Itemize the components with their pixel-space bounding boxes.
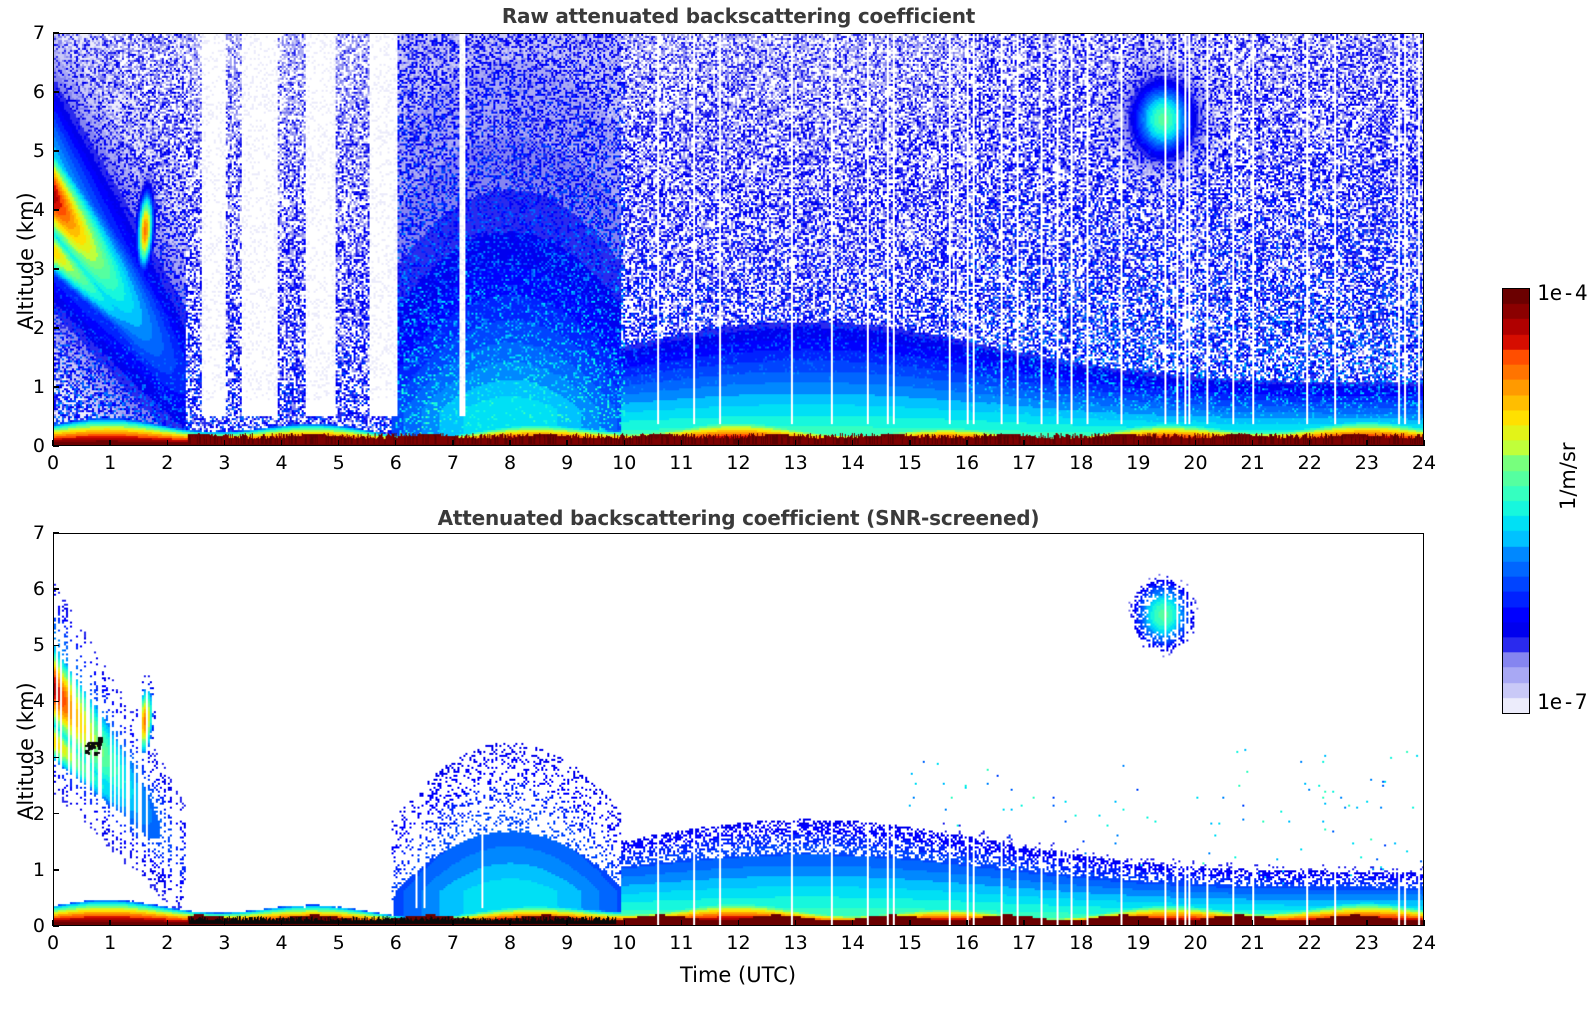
x-tick-label: 2 — [161, 932, 173, 954]
x-tick-label: 21 — [1241, 452, 1265, 474]
y-tick-label: 2 — [17, 803, 45, 825]
x-tick — [1081, 440, 1082, 446]
x-tick — [795, 920, 796, 926]
y-tick — [53, 91, 59, 92]
y-tick — [53, 757, 59, 758]
x-tick — [566, 440, 567, 446]
x-tick-label: 8 — [504, 452, 516, 474]
x-axis-label: Time (UTC) — [680, 963, 796, 987]
x-tick-label: 20 — [1183, 932, 1207, 954]
x-tick-label: 16 — [955, 452, 979, 474]
x-tick-label: 14 — [841, 452, 865, 474]
x-tick — [167, 920, 168, 926]
x-tick-label: 19 — [1126, 452, 1150, 474]
x-tick — [1138, 920, 1139, 926]
y-tick — [53, 701, 59, 702]
y-tick-label: 3 — [17, 258, 45, 280]
x-tick — [1309, 920, 1310, 926]
x-tick — [795, 440, 796, 446]
top-panel-title: Raw attenuated backscattering coefficien… — [53, 4, 1424, 28]
x-tick — [224, 440, 225, 446]
y-tick-label: 2 — [17, 317, 45, 339]
y-tick — [53, 813, 59, 814]
x-tick-label: 10 — [612, 452, 636, 474]
y-tick — [53, 532, 59, 533]
x-tick-label: 11 — [669, 932, 693, 954]
x-tick — [1195, 440, 1196, 446]
x-tick — [1081, 920, 1082, 926]
colorbar-gradient — [1502, 288, 1530, 714]
x-tick-label: 4 — [275, 932, 287, 954]
x-tick — [509, 440, 510, 446]
x-tick — [624, 440, 625, 446]
x-tick-label: 16 — [955, 932, 979, 954]
x-tick-label: 0 — [47, 452, 59, 474]
y-tick — [53, 209, 59, 210]
x-tick-label: 4 — [275, 452, 287, 474]
x-tick — [395, 920, 396, 926]
y-tick-label: 5 — [17, 140, 45, 162]
x-tick-label: 3 — [218, 452, 230, 474]
x-tick-label: 18 — [1069, 452, 1093, 474]
x-tick — [738, 920, 739, 926]
x-tick — [566, 920, 567, 926]
x-tick — [109, 440, 110, 446]
x-tick — [1366, 920, 1367, 926]
x-tick-label: 21 — [1241, 932, 1265, 954]
y-tick-label: 6 — [17, 578, 45, 600]
y-tick-label: 7 — [17, 22, 45, 44]
x-tick-label: 24 — [1412, 932, 1436, 954]
x-tick — [452, 920, 453, 926]
x-tick-label: 22 — [1298, 452, 1322, 474]
x-tick — [1195, 920, 1196, 926]
y-tick — [53, 869, 59, 870]
y-tick — [53, 268, 59, 269]
x-tick — [1252, 440, 1253, 446]
x-tick-label: 12 — [726, 932, 750, 954]
x-tick-label: 7 — [447, 452, 459, 474]
x-tick — [281, 920, 282, 926]
x-tick — [338, 920, 339, 926]
x-tick-label: 23 — [1355, 452, 1379, 474]
y-tick — [53, 386, 59, 387]
colorbar-max-label: 1e-4 — [1537, 281, 1588, 305]
x-tick — [509, 920, 510, 926]
x-tick-label: 3 — [218, 932, 230, 954]
x-tick — [1309, 440, 1310, 446]
x-tick — [1023, 440, 1024, 446]
x-tick — [909, 920, 910, 926]
y-tick-label: 4 — [17, 199, 45, 221]
y-tick — [53, 150, 59, 151]
y-tick — [53, 445, 59, 446]
x-tick-label: 9 — [561, 932, 573, 954]
colorbar — [1502, 288, 1530, 714]
x-tick-label: 2 — [161, 452, 173, 474]
x-tick-label: 20 — [1183, 452, 1207, 474]
bottom-panel-plot-area — [53, 533, 1424, 926]
x-tick-label: 0 — [47, 932, 59, 954]
y-tick-label: 0 — [17, 915, 45, 937]
top-panel-plot-area — [53, 33, 1424, 446]
x-tick-label: 1 — [104, 452, 116, 474]
x-tick-label: 1 — [104, 932, 116, 954]
y-tick-label: 0 — [17, 435, 45, 457]
y-tick-label: 1 — [17, 859, 45, 881]
y-tick — [53, 588, 59, 589]
x-tick — [224, 920, 225, 926]
x-tick-label: 7 — [447, 932, 459, 954]
x-tick-label: 12 — [726, 452, 750, 474]
x-tick-label: 13 — [784, 452, 808, 474]
y-tick-label: 1 — [17, 376, 45, 398]
x-tick — [109, 920, 110, 926]
bottom-panel-title: Attenuated backscattering coefficient (S… — [53, 506, 1424, 530]
x-tick-label: 24 — [1412, 452, 1436, 474]
x-tick-label: 5 — [333, 452, 345, 474]
x-tick-label: 10 — [612, 932, 636, 954]
x-tick-label: 14 — [841, 932, 865, 954]
x-tick-label: 15 — [898, 452, 922, 474]
y-tick-label: 7 — [17, 522, 45, 544]
y-tick — [53, 925, 59, 926]
x-tick — [1138, 440, 1139, 446]
y-tick — [53, 327, 59, 328]
x-tick-label: 23 — [1355, 932, 1379, 954]
x-tick — [1423, 440, 1424, 446]
x-tick — [624, 920, 625, 926]
x-tick — [395, 440, 396, 446]
x-tick-label: 9 — [561, 452, 573, 474]
x-tick-label: 5 — [333, 932, 345, 954]
x-tick-label: 15 — [898, 932, 922, 954]
x-tick-label: 17 — [1012, 932, 1036, 954]
x-tick-label: 6 — [390, 932, 402, 954]
x-tick — [681, 440, 682, 446]
x-tick — [452, 440, 453, 446]
y-tick — [53, 32, 59, 33]
x-tick — [966, 440, 967, 446]
x-tick-label: 8 — [504, 932, 516, 954]
x-tick — [1366, 440, 1367, 446]
x-tick-label: 11 — [669, 452, 693, 474]
y-tick-label: 4 — [17, 690, 45, 712]
x-tick — [966, 920, 967, 926]
x-tick-label: 19 — [1126, 932, 1150, 954]
x-tick — [738, 440, 739, 446]
x-tick-label: 13 — [784, 932, 808, 954]
x-tick — [852, 440, 853, 446]
x-tick — [281, 440, 282, 446]
x-tick-label: 17 — [1012, 452, 1036, 474]
x-tick — [852, 920, 853, 926]
x-tick — [909, 440, 910, 446]
y-tick-label: 3 — [17, 747, 45, 769]
lidar-backscatter-figure: Raw attenuated backscattering coefficien… — [0, 0, 1595, 1020]
x-tick-label: 22 — [1298, 932, 1322, 954]
x-tick — [1423, 920, 1424, 926]
x-tick — [1252, 920, 1253, 926]
x-tick — [681, 920, 682, 926]
x-tick — [338, 440, 339, 446]
y-tick — [53, 645, 59, 646]
y-tick-label: 6 — [17, 81, 45, 103]
x-tick-label: 18 — [1069, 932, 1093, 954]
x-tick — [1023, 920, 1024, 926]
colorbar-min-label: 1e-7 — [1537, 690, 1588, 714]
x-tick-label: 6 — [390, 452, 402, 474]
colorbar-unit-label: 1/m/sr — [1556, 442, 1580, 510]
y-tick-label: 5 — [17, 634, 45, 656]
x-tick — [167, 440, 168, 446]
